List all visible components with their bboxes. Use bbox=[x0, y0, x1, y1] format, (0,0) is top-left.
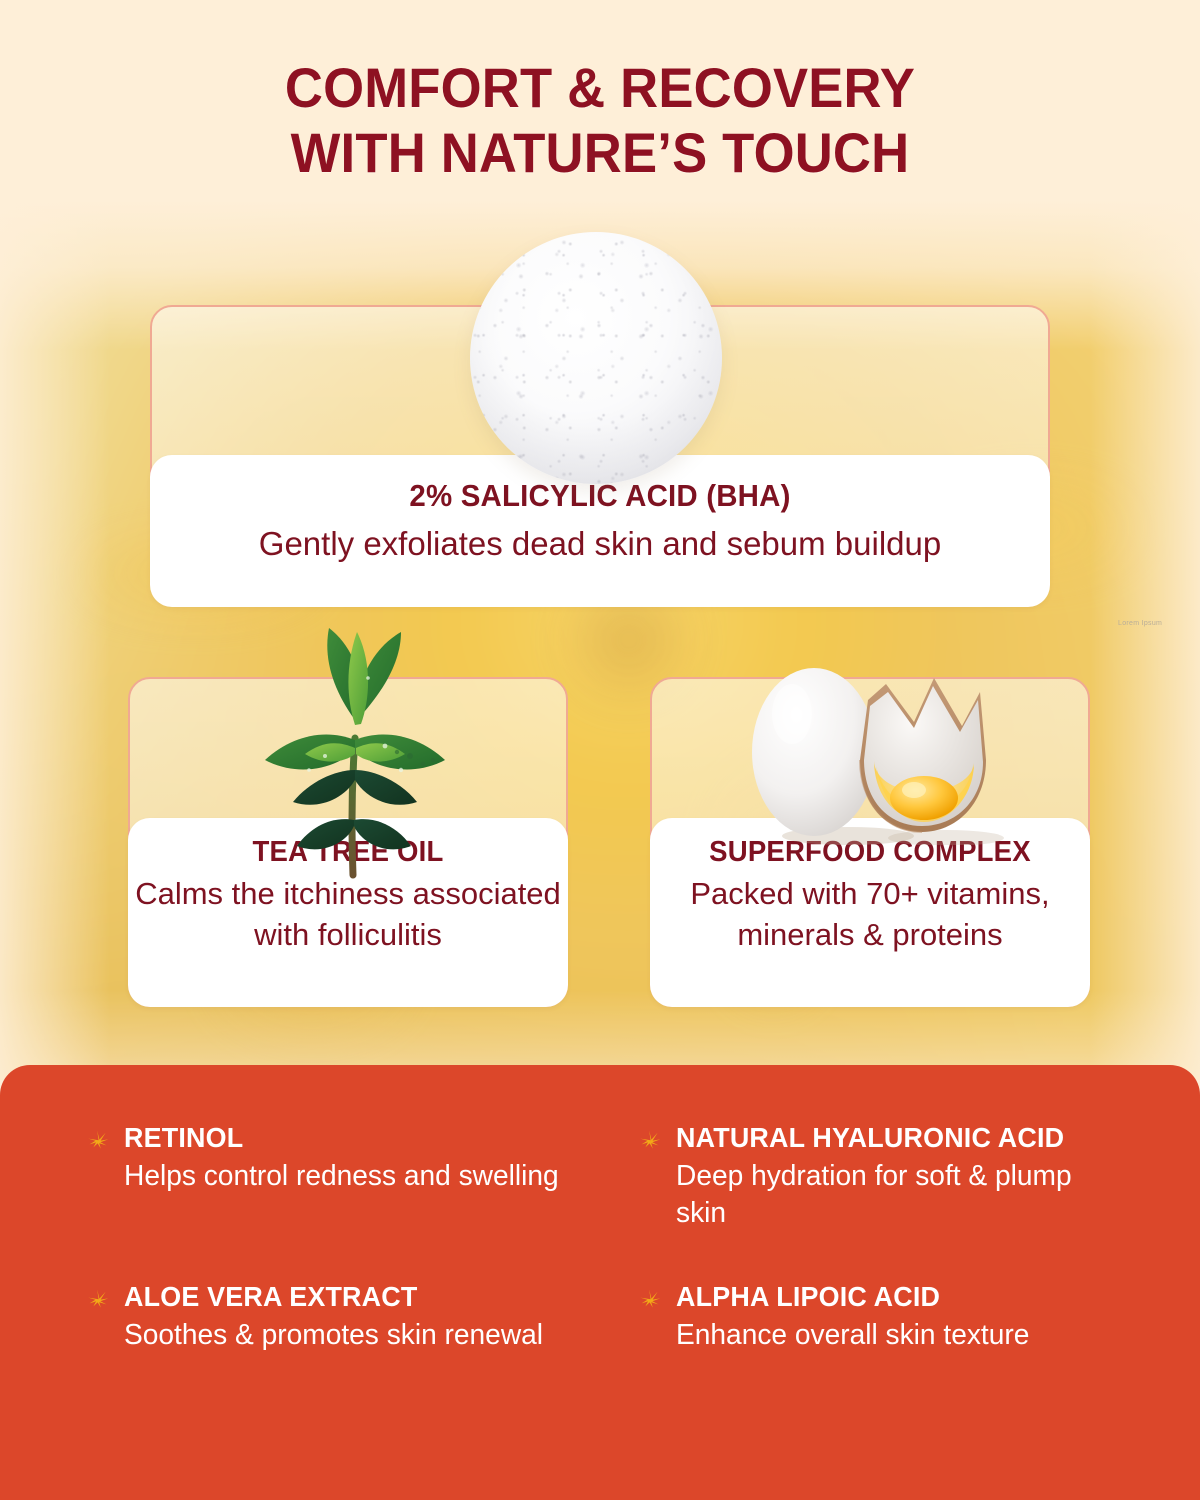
sparkle-icon bbox=[86, 1127, 110, 1156]
background-right-fade bbox=[1090, 200, 1200, 1080]
benefit-title-aloe-vera-extract: ALOE VERA EXTRACT bbox=[124, 1280, 539, 1313]
benefit-title-retinol: RETINOL bbox=[124, 1121, 554, 1154]
benefit-desc-retinol: Helps control redness and swelling bbox=[124, 1158, 559, 1195]
benefit-title-alpha-lipoic-acid: ALPHA LIPOIC ACID bbox=[676, 1280, 1026, 1313]
benefit-text-aloe-vera-extract: ALOE VERA EXTRACT Soothes & promotes ski… bbox=[124, 1280, 556, 1354]
benefit-text-alpha-lipoic-acid: ALPHA LIPOIC ACID Enhance overall skin t… bbox=[676, 1280, 1040, 1354]
benefit-item-alpha-lipoic-acid: ALPHA LIPOIC ACID Enhance overall skin t… bbox=[638, 1280, 1126, 1354]
ingredient-desc-salicylic-acid: Gently exfoliates dead skin and sebum bu… bbox=[150, 522, 1050, 567]
ingredient-desc-tea-tree-oil: Calms the itchiness associated with foll… bbox=[128, 873, 568, 955]
infographic-poster: COMFORT & RECOVERY WITH NATURE’S TOUCH 2… bbox=[0, 0, 1200, 1500]
benefit-desc-alpha-lipoic-acid: Enhance overall skin texture bbox=[676, 1317, 1029, 1354]
white-powder-icon bbox=[470, 232, 722, 484]
benefits-panel: RETINOL Helps control redness and swelli… bbox=[0, 1065, 1200, 1500]
sparkle-icon bbox=[638, 1286, 662, 1315]
benefit-text-natural-hyaluronic-acid: NATURAL HYALURONIC ACID Deep hydration f… bbox=[676, 1121, 1126, 1232]
benefits-grid: RETINOL Helps control redness and swelli… bbox=[86, 1121, 1126, 1354]
page-title: COMFORT & RECOVERY WITH NATURE’S TOUCH bbox=[36, 56, 1164, 186]
ingredient-desc-superfood-complex: Packed with 70+ vitamins, minerals & pro… bbox=[650, 873, 1090, 955]
benefit-item-aloe-vera-extract: ALOE VERA EXTRACT Soothes & promotes ski… bbox=[86, 1280, 574, 1354]
background-left-fade bbox=[0, 200, 110, 1080]
sparkle-icon bbox=[638, 1127, 662, 1156]
benefit-item-retinol: RETINOL Helps control redness and swelli… bbox=[86, 1121, 574, 1232]
cracked-egg-icon bbox=[718, 640, 1018, 845]
watermark-text: Lorem Ipsum bbox=[1118, 620, 1162, 627]
benefit-text-retinol: RETINOL Helps control redness and swelli… bbox=[124, 1121, 572, 1195]
benefit-desc-aloe-vera-extract: Soothes & promotes skin renewal bbox=[124, 1317, 543, 1354]
powder-shading bbox=[470, 232, 722, 484]
sparkle-icon bbox=[86, 1286, 110, 1315]
page-title-line-1: COMFORT & RECOVERY bbox=[285, 56, 915, 119]
ingredient-label-superfood-complex: SUPERFOOD COMPLEX Packed with 70+ vitami… bbox=[650, 818, 1090, 1007]
page-title-line-2: WITH NATURE’S TOUCH bbox=[36, 121, 1164, 186]
benefit-desc-natural-hyaluronic-acid: Deep hydration for soft & plump skin bbox=[676, 1158, 1113, 1232]
benefit-item-natural-hyaluronic-acid: NATURAL HYALURONIC ACID Deep hydration f… bbox=[638, 1121, 1126, 1232]
tea-tree-sprig-icon bbox=[205, 620, 505, 880]
benefit-title-natural-hyaluronic-acid: NATURAL HYALURONIC ACID bbox=[676, 1121, 1108, 1154]
